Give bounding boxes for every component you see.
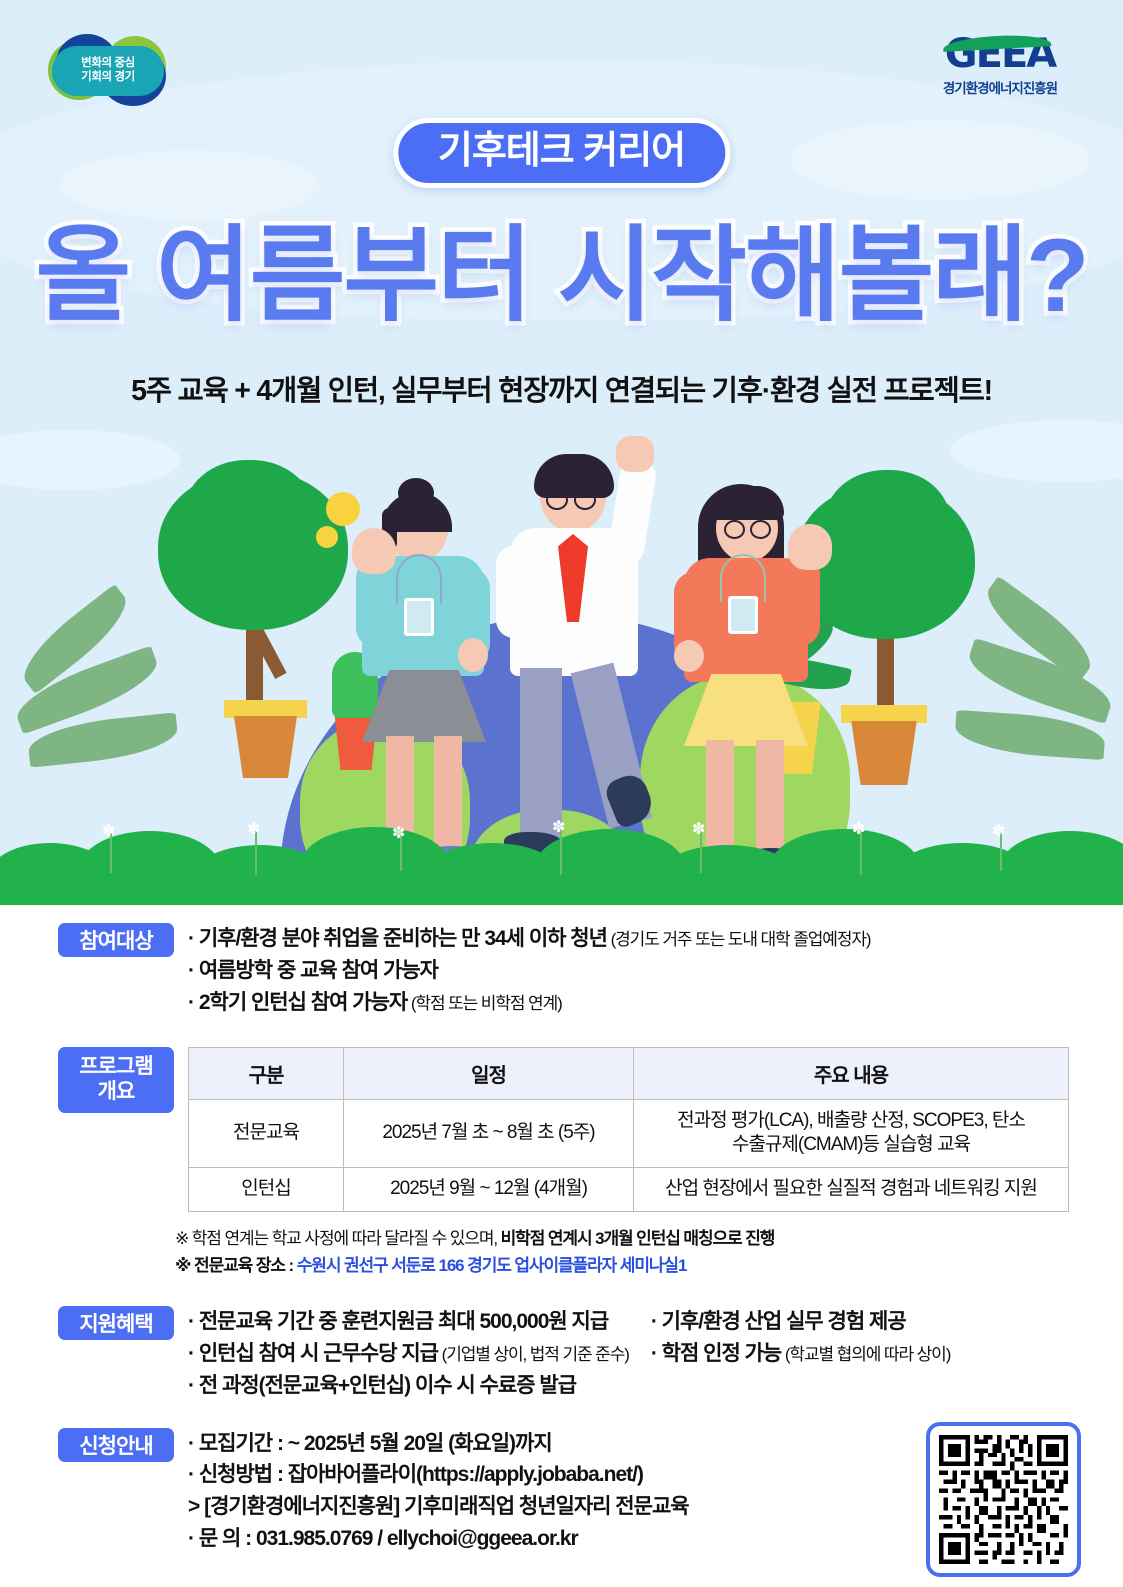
program-notes: ※ 학점 연계는 학교 사정에 따라 달라질 수 있으며, 비학점 연계시 3개… — [175, 1225, 1123, 1280]
cell-type-0: 전문교육 — [189, 1099, 344, 1167]
title-badge: 기후테크 커리어 — [393, 118, 730, 188]
benefit-left-1-small: (기업별 상이, 법적 기준 준수) — [438, 1345, 629, 1364]
person-left-lanyard — [396, 554, 442, 604]
person-right-id-badge — [728, 596, 758, 634]
cell-schedule-1: 2025년 9월 ~ 12월 (4개월) — [344, 1168, 634, 1212]
benefits-left-column: · 전문교육 기간 중 훈련지원금 최대 500,000원 지급 · 인턴십 참… — [188, 1306, 629, 1402]
flower-3: ✽ — [392, 823, 405, 843]
section-benefits-tag: 지원혜택 — [58, 1306, 174, 1340]
pot-left-body — [228, 716, 303, 778]
person-right-hand — [674, 640, 704, 672]
ggeea-logo-mark: GEEA — [925, 34, 1075, 74]
ggeea-logo: GEEA 경기환경에너지진흥원 — [925, 34, 1075, 100]
note-0-prefix: ※ 학점 연계는 학교 사정에 따라 달라질 수 있으며, — [175, 1229, 501, 1248]
cell-schedule-0: 2025년 7월 초 ~ 8월 초 (5주) — [344, 1099, 634, 1167]
list-item: · 학점 인정 가능 (학교별 협의에 따라 상이) — [651, 1338, 950, 1370]
ggeea-logo-subtitle: 경기환경에너지진흥원 — [925, 77, 1075, 97]
person-left-id-badge — [404, 598, 434, 636]
hero-illustration: ✽ ✽ ✽ ✽ ✽ ✽ ✽ — [0, 420, 1123, 905]
person-center-arm-hip — [496, 546, 532, 638]
apply-item-3: · 문 의 : 031.985.0769 / ellychoi@ggeea.or… — [188, 1527, 578, 1550]
person-right-glasses-left — [724, 520, 745, 539]
list-item: · 여름방학 중 교육 참여 가능자 — [188, 955, 870, 987]
flower-5: ✽ — [692, 819, 705, 839]
list-item: · 전 과정(전문교육+인턴십) 이수 시 수료증 발급 — [188, 1370, 629, 1402]
cell-content-1: 산업 현장에서 필요한 실질적 경험과 네트워킹 지원 — [634, 1168, 1069, 1212]
note-1-address: 수원시 권선구 서둔로 166 경기도 업사이클플라자 세미나실1 — [297, 1256, 687, 1275]
target-item-0-small: (경기도 거주 또는 도내 대학 졸업예정자) — [607, 930, 871, 949]
gyeonggi-logo: 변화의 중심 기회의 경기 — [48, 34, 168, 106]
flower-2: ✽ — [247, 819, 260, 839]
qr-code-icon[interactable] — [926, 1422, 1081, 1577]
gyeonggi-logo-line2: 기회의 경기 — [81, 70, 135, 84]
section-apply-tag: 신청안내 — [58, 1428, 174, 1462]
person-right-thumbs-up-hand — [788, 524, 832, 570]
coin-large — [326, 492, 360, 526]
target-item-0-bold: · 기후/환경 분야 취업을 준비하는 만 34세 이하 청년 — [188, 927, 607, 950]
list-item: > [경기환경에너지진흥원] 기후미래직업 청년일자리 전문교육 — [188, 1491, 689, 1523]
person-right-skirt — [684, 674, 808, 746]
coin-small — [316, 526, 338, 548]
section-apply-list: · 모집기간 : ~ 2025년 5월 20일 (화요일)까지 · 신청방법 :… — [188, 1428, 689, 1556]
table-header-row: 구분 일정 주요 내용 — [189, 1047, 1069, 1099]
program-note-1: ※ 전문교육 장소 : 수원시 권선구 서둔로 166 경기도 업사이클플라자 … — [175, 1252, 1123, 1280]
target-item-1-bold: · 여름방학 중 교육 참여 가능자 — [188, 959, 438, 982]
section-apply: 신청안내 · 모집기간 : ~ 2025년 5월 20일 (화요일)까지 · 신… — [0, 1428, 1123, 1556]
flower-7: ✽ — [992, 821, 1005, 841]
content-area: 참여대상 · 기후/환경 분야 취업을 준비하는 만 34세 이하 청년 (경기… — [0, 905, 1123, 1555]
note-0-bold: 비학점 연계시 3개월 인턴십 매칭으로 진행 — [501, 1229, 775, 1248]
column-header-schedule: 일정 — [344, 1047, 634, 1099]
benefit-left-0-bold: · 전문교육 기간 중 훈련지원금 최대 500,000원 지급 — [188, 1310, 608, 1333]
benefit-right-1-small: (학교별 협의에 따라 상이) — [781, 1345, 950, 1364]
table-row: 전문교육 2025년 7월 초 ~ 8월 초 (5주) 전과정 평가(LCA),… — [189, 1099, 1069, 1167]
target-item-2-small: (학점 또는 비학점 연계) — [407, 994, 561, 1013]
title-badge-label: 기후테크 커리어 — [438, 130, 685, 172]
page-title: 올 여름부터 시작해볼래? — [0, 222, 1123, 331]
qr-code-svg — [939, 1435, 1068, 1564]
table-row: 인턴십 2025년 9월 ~ 12월 (4개월) 산업 현장에서 필요한 실질적… — [189, 1168, 1069, 1212]
section-target-list: · 기후/환경 분야 취업을 준비하는 만 34세 이하 청년 (경기도 거주 … — [188, 923, 870, 1019]
benefit-left-2-bold: · 전 과정(전문교육+인턴십) 이수 시 수료증 발급 — [188, 1374, 576, 1397]
list-item: · 전문교육 기간 중 훈련지원금 최대 500,000원 지급 — [188, 1306, 629, 1338]
person-center-arm-raised — [606, 456, 658, 568]
gyeonggi-logo-line1: 변화의 중심 — [81, 56, 135, 70]
column-header-type: 구분 — [189, 1047, 344, 1099]
benefits-right-column: · 기후/환경 산업 실무 경험 제공 · 학점 인정 가능 (학교별 협의에 … — [651, 1306, 950, 1402]
section-target: 참여대상 · 기후/환경 분야 취업을 준비하는 만 34세 이하 청년 (경기… — [0, 923, 1123, 1019]
person-center — [466, 436, 686, 876]
section-program-tag-line1: 프로그램 — [79, 1055, 152, 1079]
program-note-0: ※ 학점 연계는 학교 사정에 따라 달라질 수 있으며, 비학점 연계시 3개… — [175, 1225, 1123, 1253]
poster-root: 변화의 중심 기회의 경기 GEEA 경기환경에너지진흥원 기후테크 커리어 올… — [0, 0, 1123, 1587]
list-item: · 신청방법 : 잡아바어플라이(https://apply.jobaba.ne… — [188, 1459, 689, 1491]
flower-1: ✽ — [102, 821, 115, 841]
person-right-glasses-right — [750, 520, 771, 539]
section-program-tag-line2: 개요 — [98, 1080, 135, 1104]
person-right-lanyard — [720, 554, 766, 602]
flower-6: ✽ — [852, 819, 865, 839]
page-subtitle: 5주 교육 + 4개월 인턴, 실무부터 현장까지 연결되는 기후·환경 실전 … — [0, 368, 1123, 409]
cloud-2 — [790, 120, 1090, 200]
person-center-glasses-right — [574, 490, 596, 510]
bush-row: ✽ ✽ ✽ ✽ ✽ ✽ ✽ — [0, 813, 1123, 905]
section-program-tag: 프로그램 개요 — [58, 1047, 174, 1113]
target-item-2-bold: · 2학기 인턴십 참여 가능자 — [188, 991, 407, 1014]
section-program: 프로그램 개요 구분 일정 주요 내용 전문교육 2025년 7월 초 ~ 8월… — [0, 1047, 1123, 1212]
list-item: · 문 의 : 031.985.0769 / ellychoi@ggeea.or… — [188, 1523, 689, 1555]
person-center-fist — [616, 436, 654, 472]
apply-item-2: > [경기환경에너지진흥원] 기후미래직업 청년일자리 전문교육 — [188, 1495, 689, 1518]
list-item: · 인턴십 참여 시 근무수당 지급 (기업별 상이, 법적 기준 준수) — [188, 1338, 629, 1370]
flower-4: ✽ — [552, 817, 565, 837]
cell-type-1: 인턴십 — [189, 1168, 344, 1212]
pot-left — [228, 700, 303, 778]
list-item: · 2학기 인턴십 참여 가능자 (학점 또는 비학점 연계) — [188, 987, 870, 1019]
section-benefits-lists: · 전문교육 기간 중 훈련지원금 최대 500,000원 지급 · 인턴십 참… — [188, 1306, 950, 1402]
pot-right-body — [845, 721, 923, 785]
benefit-right-0-bold: · 기후/환경 산업 실무 경험 제공 — [651, 1310, 906, 1333]
cell-content-0: 전과정 평가(LCA), 배출량 산정, SCOPE3, 탄소 수출규제(CMA… — [634, 1099, 1069, 1167]
cloud-1 — [60, 150, 320, 220]
benefit-right-1-bold: · 학점 인정 가능 — [651, 1342, 781, 1365]
program-table: 구분 일정 주요 내용 전문교육 2025년 7월 초 ~ 8월 초 (5주) … — [188, 1047, 1069, 1212]
bush-10 — [1000, 831, 1123, 905]
pot-right — [845, 705, 923, 785]
apply-item-0: · 모집기간 : ~ 2025년 5월 20일 (화요일)까지 — [188, 1432, 552, 1455]
person-center-glasses-left — [546, 490, 568, 510]
person-right-hair-top — [710, 486, 784, 520]
person-center-hair — [534, 454, 614, 498]
column-header-content: 주요 내용 — [634, 1047, 1069, 1099]
tree-left-crown-2 — [184, 460, 314, 570]
gyeonggi-logo-text: 변화의 중심 기회의 경기 — [48, 34, 168, 106]
pot-right-rim — [841, 705, 927, 723]
list-item: · 기후/환경 분야 취업을 준비하는 만 34세 이하 청년 (경기도 거주 … — [188, 923, 870, 955]
list-item: · 모집기간 : ~ 2025년 5월 20일 (화요일)까지 — [188, 1428, 689, 1460]
note-1-bold: ※ 전문교육 장소 : — [175, 1256, 297, 1275]
benefit-left-1-bold: · 인턴십 참여 시 근무수당 지급 — [188, 1342, 438, 1365]
section-target-tag: 참여대상 — [58, 923, 174, 957]
section-benefits: 지원혜택 · 전문교육 기간 중 훈련지원금 최대 500,000원 지급 · … — [0, 1306, 1123, 1402]
hero-background: 변화의 중심 기회의 경기 GEEA 경기환경에너지진흥원 기후테크 커리어 올… — [0, 0, 1123, 905]
pot-left-rim — [224, 700, 307, 718]
person-left-thumbs-up-hand — [352, 528, 396, 574]
list-item: · 기후/환경 산업 실무 경험 제공 — [651, 1306, 950, 1338]
apply-item-1[interactable]: · 신청방법 : 잡아바어플라이(https://apply.jobaba.ne… — [188, 1463, 643, 1486]
